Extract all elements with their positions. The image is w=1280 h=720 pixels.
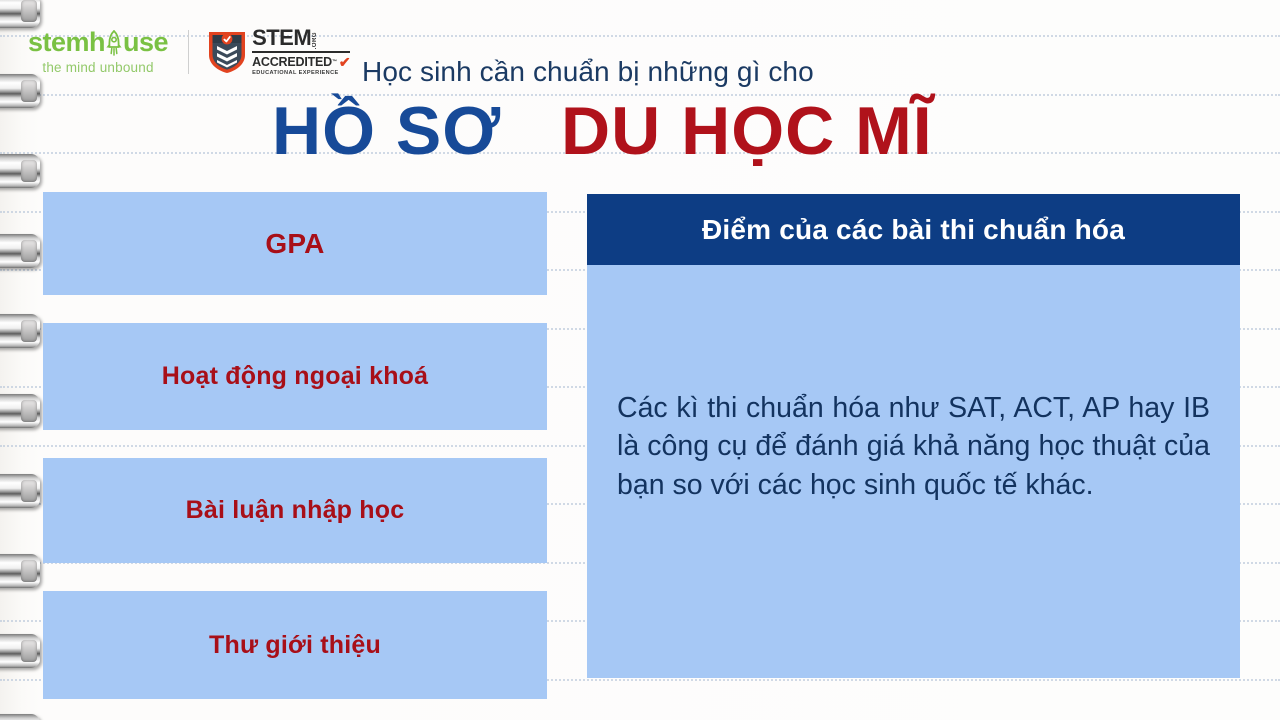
panel-body-text: Các kì thi chuẩn hóa như SAT, ACT, AP ha… — [617, 389, 1210, 504]
badge-stem-label: STEM — [252, 27, 311, 49]
requirement-pill-label: Thư giới thiệu — [209, 631, 381, 660]
standardized-test-panel: Điểm của các bài thi chuẩn hóa Các kì th… — [587, 194, 1240, 678]
slide-subtitle: Học sinh cần chuẩn bị những gì cho — [362, 56, 814, 88]
slide-title: HỒ SƠ DU HỌC MĨ — [272, 96, 933, 167]
requirement-list: GPAHoạt động ngoại khoáBài luận nhập học… — [43, 192, 547, 720]
badge-text-block: STEM .ORG ACCREDITED™✔ EDUCATIONAL EXPER… — [252, 27, 350, 77]
rocket-icon — [104, 30, 124, 56]
stemhouse-tagline: the mind unbound — [42, 61, 153, 75]
binding-ring — [0, 474, 40, 508]
stemhouse-word-part-2: use — [123, 29, 168, 56]
badge-subtitle: EDUCATIONAL EXPERIENCE — [252, 71, 350, 77]
requirement-pill-label: Hoạt động ngoại khoá — [162, 362, 429, 391]
requirement-pill-label: GPA — [265, 228, 324, 260]
slide-title-blue: HỒ SƠ — [272, 93, 501, 169]
requirement-pill[interactable]: GPA — [43, 192, 547, 295]
spiral-binding — [0, 0, 42, 720]
badge-accredited-label: ACCREDITED — [252, 56, 332, 69]
check-icon: ✔ — [339, 55, 351, 69]
binding-ring — [0, 554, 40, 588]
requirement-pill[interactable]: Thư giới thiệu — [43, 591, 547, 699]
requirement-pill[interactable]: Hoạt động ngoại khoá — [43, 323, 547, 430]
badge-accredited-row: ACCREDITED™✔ — [252, 51, 350, 69]
binding-ring — [0, 234, 40, 268]
slide-title-red: DU HỌC MĨ — [561, 93, 933, 169]
requirement-pill-label: Bài luận nhập học — [186, 496, 405, 525]
binding-ring — [0, 634, 40, 668]
binding-ring — [0, 394, 40, 428]
binding-ring — [0, 154, 40, 188]
badge-org-label: .ORG — [312, 32, 318, 49]
trademark-icon: ™ — [332, 60, 337, 65]
stemhouse-wordmark: stemh use — [28, 29, 168, 56]
binding-ring — [0, 714, 40, 720]
stem-accredited-badge: STEM .ORG ACCREDITED™✔ EDUCATIONAL EXPER… — [207, 27, 350, 77]
badge-stem-word: STEM .ORG — [252, 27, 350, 49]
panel-header: Điểm của các bài thi chuẩn hóa — [587, 194, 1240, 265]
requirement-pill[interactable]: Bài luận nhập học — [43, 458, 547, 563]
stemhouse-logo: stemh use the mind unbound — [28, 29, 168, 75]
slide-canvas: stemh use the mind unbound — [0, 0, 1280, 720]
panel-header-label: Điểm của các bài thi chuẩn hóa — [702, 214, 1125, 246]
logo-divider — [188, 30, 189, 74]
logo-bar: stemh use the mind unbound — [28, 22, 350, 82]
shield-icon — [207, 29, 247, 75]
binding-ring — [0, 314, 40, 348]
stemhouse-word-part-1: stemh — [28, 29, 105, 56]
